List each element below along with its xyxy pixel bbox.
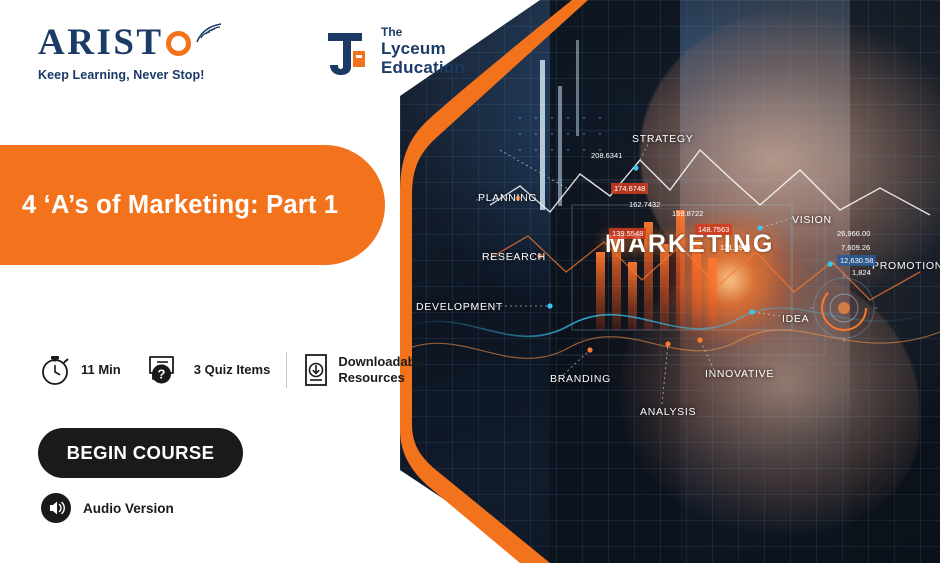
- meta-resources: Downloadable Resources: [303, 353, 426, 387]
- meta-divider: [286, 352, 287, 388]
- meta-quiz: ? 3 Quiz Items: [147, 353, 271, 387]
- hud-label-strategy: STRATEGY: [632, 133, 693, 145]
- hud-label-planning: PLANNING: [478, 192, 537, 204]
- hud-label-research: RESEARCH: [482, 251, 546, 263]
- download-document-icon: [303, 353, 329, 387]
- hud-value-10: 12,630.58: [837, 255, 876, 266]
- lyceum-monogram-icon: [322, 27, 372, 77]
- lyceum-line-3: Education: [381, 58, 465, 77]
- page-title: 4 ‘A’s of Marketing: Part 1: [0, 191, 338, 220]
- meta-resources-label: Downloadable Resources: [338, 354, 426, 387]
- lyceum-line-1: The: [381, 26, 465, 39]
- course-title-band: 4 ‘A’s of Marketing: Part 1: [0, 145, 385, 265]
- aristo-name-text: ARIST: [38, 22, 164, 63]
- hero-image: MARKETING STRATEGY PLANNING RESEARCH DEV…: [400, 0, 940, 563]
- hud-value-8: 26,966.00: [837, 229, 870, 238]
- meta-resources-line-2: Resources: [338, 370, 404, 385]
- quiz-question-icon: ?: [147, 353, 185, 387]
- hud-value-5: 148.7563: [695, 224, 732, 235]
- hud-value-4: 159.8722: [672, 209, 703, 218]
- hud-value-1: 208.6341: [591, 151, 622, 160]
- course-meta-row: 11 Min ? 3 Quiz Items Downlo: [38, 352, 426, 388]
- meta-duration-label: 11 Min: [81, 362, 121, 378]
- aristo-wordmark: ARIST: [38, 24, 205, 61]
- hud-graphics: MARKETING STRATEGY PLANNING RESEARCH DEV…: [400, 0, 940, 563]
- meta-resources-line-1: Downloadable: [338, 354, 426, 369]
- audio-version-label: Audio Version: [83, 501, 174, 516]
- stopwatch-icon: [38, 353, 72, 387]
- meta-quiz-label: 3 Quiz Items: [194, 362, 271, 378]
- hud-value-11: 1,824: [852, 268, 871, 277]
- meta-duration: 11 Min: [38, 353, 121, 387]
- hud-label-development: DEVELOPMENT: [416, 301, 503, 313]
- course-landing-page: MARKETING STRATEGY PLANNING RESEARCH DEV…: [0, 0, 940, 563]
- hud-label-analysis: ANALYSIS: [640, 406, 696, 418]
- aristo-tagline: Keep Learning, Never Stop!: [38, 68, 205, 82]
- svg-text:?: ?: [157, 367, 165, 382]
- begin-course-button[interactable]: BEGIN COURSE: [38, 428, 243, 478]
- hud-value-9: 7,609.26: [841, 243, 870, 252]
- hud-label-idea: IDEA: [782, 313, 809, 325]
- hud-value-3: 162.7432: [629, 200, 660, 209]
- hud-svg: [400, 0, 940, 563]
- aristo-logo: ARIST Keep Learning, Never Stop!: [38, 24, 205, 82]
- orange-ring-letter-o-icon: [166, 31, 191, 56]
- laurel-icon: [195, 22, 225, 44]
- lyceum-wordmark: The Lyceum Education: [381, 26, 465, 78]
- lyceum-line-2: Lyceum: [381, 39, 465, 58]
- hud-value-2: 174.6748: [611, 183, 648, 194]
- hud-label-innovative: INNOVATIVE: [705, 368, 774, 380]
- hud-value-6: 139.5548: [609, 228, 646, 239]
- speaker-icon[interactable]: [40, 492, 72, 524]
- lyceum-logo: The Lyceum Education: [322, 26, 465, 78]
- hud-label-vision: VISION: [792, 214, 832, 226]
- hud-label-branding: BRANDING: [550, 373, 611, 385]
- hud-label-promotion: PROMOTION: [872, 260, 940, 272]
- hud-value-7: 131.3941: [720, 243, 751, 252]
- audio-version-control[interactable]: Audio Version: [40, 492, 174, 524]
